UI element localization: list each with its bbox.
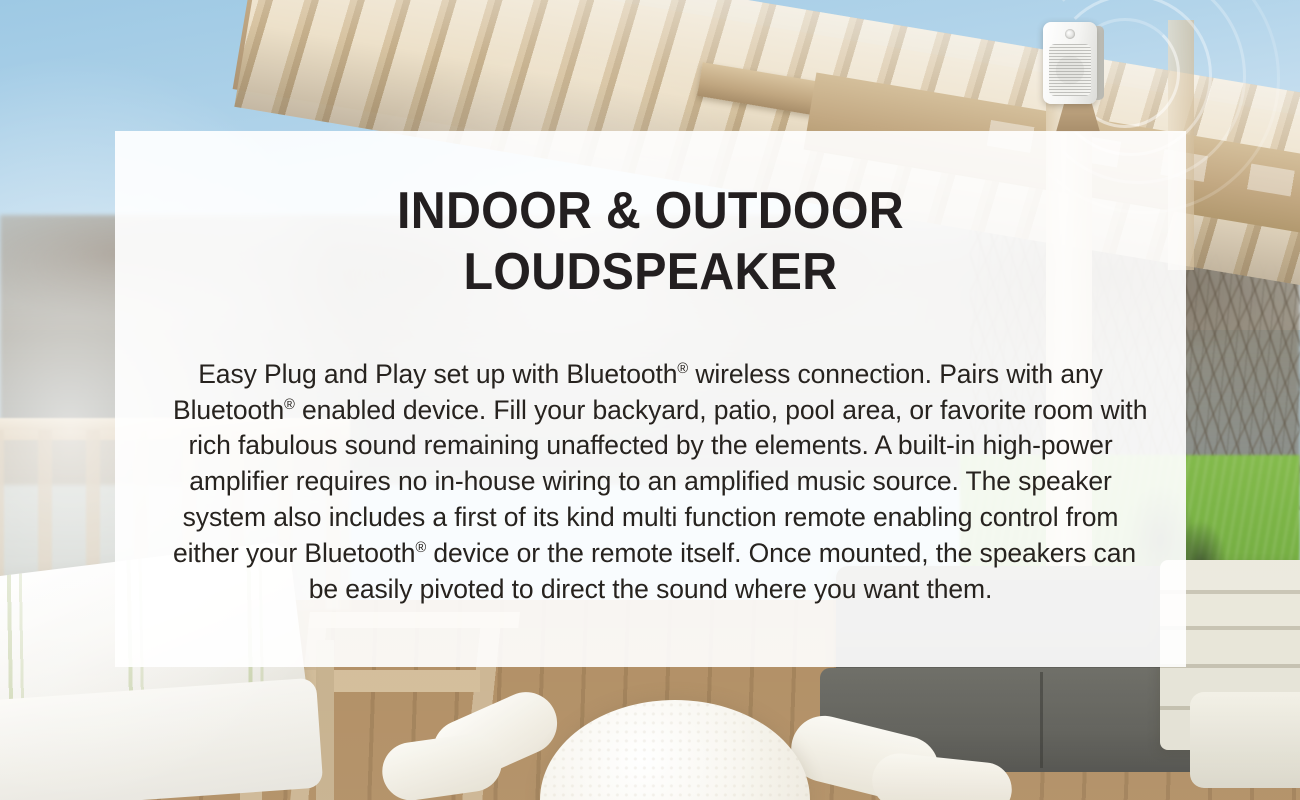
description-line-1: Easy Plug and Play set up with Bluetooth… xyxy=(173,357,1128,393)
page-title-line-2: LOUDSPEAKER xyxy=(175,242,1126,303)
side-pillow xyxy=(1190,692,1300,788)
content-card: INDOOR & OUTDOOR LOUDSPEAKER Easy Plug a… xyxy=(115,131,1186,667)
description-line-6: either your Bluetooth® device or the rem… xyxy=(173,536,1128,572)
outdoor-speaker xyxy=(1043,22,1097,104)
registered-trademark-icon: ® xyxy=(677,361,688,377)
description-line-7: be easily pivoted to direct the sound wh… xyxy=(173,572,1128,608)
speaker-tweeter-icon xyxy=(1065,29,1075,39)
registered-trademark-icon: ® xyxy=(415,540,426,556)
speaker-grille-icon xyxy=(1049,44,1091,96)
description-line-2: Bluetooth® enabled device. Fill your bac… xyxy=(173,393,1128,429)
page-title-line-1: INDOOR & OUTDOOR xyxy=(175,181,1126,242)
page-title: INDOOR & OUTDOOR LOUDSPEAKER xyxy=(175,181,1126,303)
sofa-cushion-seam xyxy=(1040,672,1043,768)
registered-trademark-icon: ® xyxy=(284,397,295,413)
white-seat-cushion xyxy=(0,678,323,800)
product-description: Easy Plug and Play set up with Bluetooth… xyxy=(139,357,1162,608)
description-line-5: system also includes a first of its kind… xyxy=(173,500,1128,536)
description-line-3: rich fabulous sound remaining unaffected… xyxy=(173,428,1128,464)
description-line-4: amplifier requires no in-house wiring to… xyxy=(173,464,1128,500)
